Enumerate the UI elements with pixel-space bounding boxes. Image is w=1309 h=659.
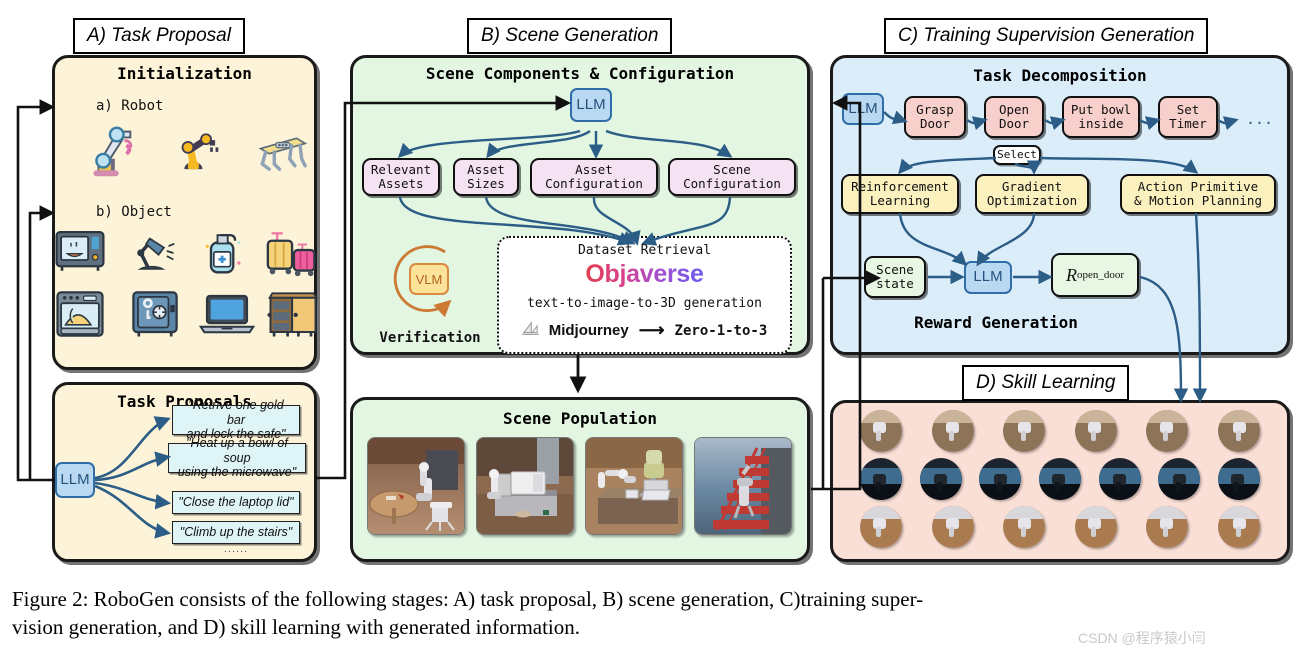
skill-circle-skill-6[interactable] — [1218, 410, 1260, 452]
pipeline-target: Zero-1-to-3 — [675, 323, 768, 339]
scene-components-title: Scene Components & Configuration — [350, 64, 810, 83]
desk-lamp-icon — [128, 228, 182, 276]
reward-symbol: R — [1066, 265, 1077, 285]
select-node[interactable]: Select — [993, 145, 1041, 165]
scene-thumb-living-room[interactable] — [367, 437, 465, 535]
luggage-icon — [264, 224, 322, 278]
watermark: CSDN @程序猿小闫 — [1078, 628, 1206, 648]
skill-circle-skill-5[interactable] — [1146, 410, 1188, 452]
component-scene-configuration[interactable]: Scene Configuration — [668, 158, 796, 196]
robot-arm-yellow-icon — [168, 122, 226, 180]
task-step-open-door[interactable]: Open Door — [984, 96, 1044, 138]
objaverse-wordmark: Objaverse — [585, 260, 703, 288]
skill-circle-skill-19[interactable] — [1218, 506, 1260, 548]
pipeline-arrow-icon: ⟶ — [639, 320, 665, 341]
figure-caption-line-1: Figure 2: RoboGen consists of the follow… — [12, 586, 1302, 614]
task-step-set-timer[interactable]: Set Timer — [1158, 96, 1218, 138]
dataset-retrieval-title: Dataset Retrieval — [497, 243, 792, 258]
skill-circle-skill-10[interactable] — [1039, 458, 1081, 500]
microwave-icon — [53, 226, 107, 276]
scene-thumb-laptop-desk[interactable] — [585, 437, 683, 535]
task-proposal-bubble-1[interactable]: "Retrive one gold bar and lock the safe" — [172, 405, 300, 435]
skill-circle-skill-2[interactable] — [932, 410, 974, 452]
skill-circle-skill-18[interactable] — [1146, 506, 1188, 548]
verification-label: Verification — [369, 330, 491, 346]
scene-state-node[interactable]: Scene state — [864, 256, 926, 298]
object-row-label: b) Object — [96, 204, 172, 220]
section-b-label: B) Scene Generation — [481, 25, 658, 46]
scene-thumb-microwave[interactable] — [476, 437, 574, 535]
method-reinforcement-learning[interactable]: Reinforcement Learning — [841, 174, 959, 214]
component-asset-configuration[interactable]: Asset Configuration — [530, 158, 658, 196]
skill-circle-skill-14[interactable] — [860, 506, 902, 548]
reward-function-node[interactable]: Ropen_door — [1051, 253, 1139, 297]
skill-circle-skill-9[interactable] — [979, 458, 1021, 500]
component-asset-sizes[interactable]: Asset Sizes — [453, 158, 519, 196]
llm-task-decomposition[interactable]: LLM — [842, 93, 884, 125]
skill-circle-skill-1[interactable] — [860, 410, 902, 452]
section-title-a: A) Task Proposal — [73, 18, 245, 54]
task-proposal-more: ...... — [172, 543, 300, 555]
llm-task-proposal[interactable]: LLM — [55, 462, 95, 498]
section-title-b: B) Scene Generation — [467, 18, 672, 54]
task-steps-ellipsis: ... — [1246, 110, 1273, 128]
task-step-grasp-door[interactable]: Grasp Door — [904, 96, 966, 138]
vlm-box[interactable]: VLM — [409, 263, 449, 295]
skill-circle-grid — [830, 400, 1290, 562]
skill-circle-skill-12[interactable] — [1158, 458, 1200, 500]
task-step-put-bowl-inside[interactable]: Put bowl inside — [1062, 96, 1140, 138]
llm-scene-components[interactable]: LLM — [570, 88, 612, 122]
initialization-title: Initialization — [52, 64, 317, 83]
cabinet-icon — [266, 288, 320, 340]
quadruped-robot-icon — [252, 124, 312, 180]
section-title-d: D) Skill Learning — [962, 365, 1129, 401]
midjourney-sailboat-icon — [522, 321, 539, 340]
dishwasher-icon — [53, 288, 107, 340]
task-decomposition-title: Task Decomposition — [830, 66, 1290, 85]
task-proposal-bubble-4[interactable]: "Climb up the stairs" — [172, 521, 300, 544]
reward-generation-title: Reward Generation — [846, 313, 1146, 332]
task-proposal-bubble-3[interactable]: "Close the laptop lid" — [172, 491, 300, 514]
task-proposal-bubble-2[interactable]: "Heat up a bowl of soup using the microw… — [168, 443, 306, 473]
skill-circle-skill-11[interactable] — [1099, 458, 1141, 500]
laptop-icon — [198, 292, 256, 338]
generation-pipeline-row: Midjourney ⟶ Zero-1-to-3 — [497, 320, 792, 341]
skill-circle-skill-3[interactable] — [1003, 410, 1045, 452]
scene-population-title: Scene Population — [350, 409, 810, 428]
section-d-label: D) Skill Learning — [976, 372, 1115, 393]
skill-circle-skill-7[interactable] — [860, 458, 902, 500]
method-action-primitive-motion-planning[interactable]: Action Primitive & Motion Planning — [1120, 174, 1276, 214]
pipeline-source: Midjourney — [549, 322, 629, 339]
skill-circle-skill-4[interactable] — [1075, 410, 1117, 452]
reward-subscript: open_door — [1077, 269, 1124, 281]
section-c-label: C) Training Supervision Generation — [898, 25, 1194, 46]
llm-reward-generation[interactable]: LLM — [964, 261, 1012, 294]
section-a-label: A) Task Proposal — [87, 25, 231, 46]
objaverse-logo: Objaverse — [497, 260, 792, 289]
skill-circle-skill-13[interactable] — [1218, 458, 1260, 500]
dataset-retrieval-subtitle: text-to-image-to-3D generation — [497, 296, 792, 311]
method-gradient-optimization[interactable]: Gradient Optimization — [975, 174, 1089, 214]
skill-circle-skill-15[interactable] — [932, 506, 974, 548]
scene-thumb-stairs[interactable] — [694, 437, 792, 535]
soap-dispenser-icon — [198, 222, 250, 278]
safe-icon — [128, 288, 182, 340]
section-title-c: C) Training Supervision Generation — [884, 18, 1208, 54]
skill-circle-skill-17[interactable] — [1075, 506, 1117, 548]
component-relevant-assets[interactable]: Relevant Assets — [362, 158, 440, 196]
skill-circle-skill-8[interactable] — [920, 458, 962, 500]
robot-row-label: a) Robot — [96, 98, 163, 114]
skill-circle-skill-16[interactable] — [1003, 506, 1045, 548]
robot-arm-gray-icon — [78, 120, 140, 182]
